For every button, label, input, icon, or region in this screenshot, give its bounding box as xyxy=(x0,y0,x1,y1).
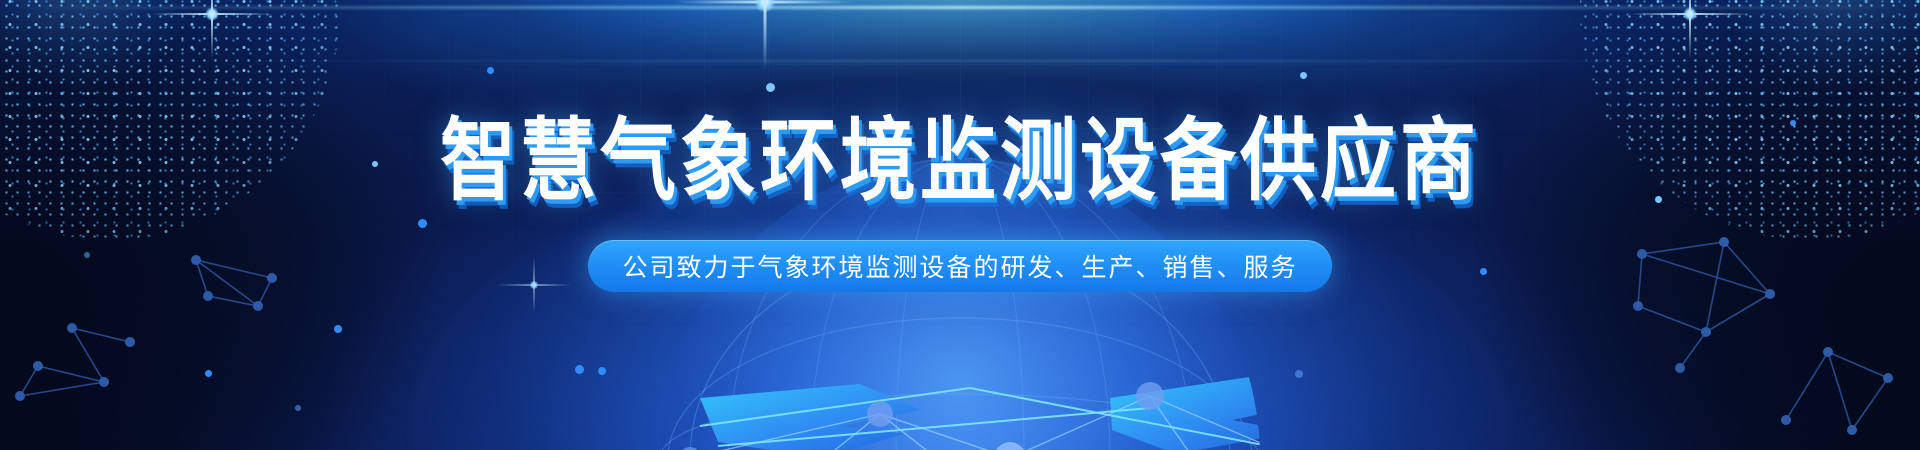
network-polygon-right-lower xyxy=(1774,330,1904,440)
subtitle-pill: 公司致力于气象环境监测设备的研发、生产、销售、服务 xyxy=(588,240,1331,292)
accent-dot xyxy=(334,325,342,333)
accent-dot xyxy=(598,367,606,375)
network-polygon-left xyxy=(8,300,168,410)
banner-content: 智慧气象环境监测设备供应商 公司致力于气象环境监测设备的研发、生产、销售、服务 xyxy=(0,0,1920,292)
accent-dot xyxy=(205,370,212,377)
accent-dot xyxy=(1295,370,1303,378)
subtitle-text: 公司致力于气象环境监测设备的研发、生产、销售、服务 xyxy=(622,248,1297,284)
accent-dot xyxy=(575,365,584,374)
hero-banner: 智慧气象环境监测设备供应商 公司致力于气象环境监测设备的研发、生产、销售、服务 xyxy=(0,0,1920,450)
page-title: 智慧气象环境监测设备供应商 xyxy=(440,116,1480,206)
accent-dot xyxy=(295,405,301,411)
